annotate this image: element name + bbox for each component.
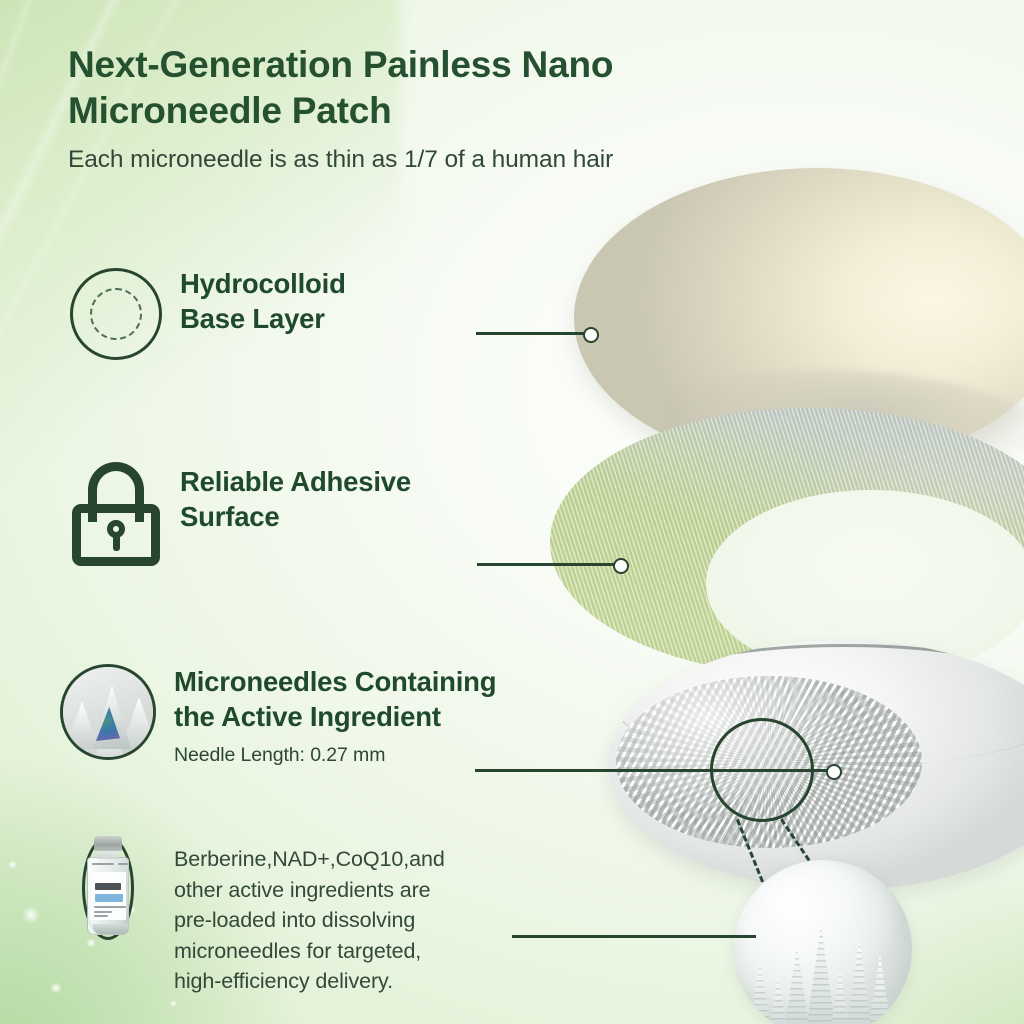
feature-text-ingredients: Berberine,NAD+,CoQ10,and other active in… — [174, 840, 445, 997]
feature-title-microneedles: Microneedles Containing the Active Ingre… — [174, 664, 496, 734]
leader-line-hydrocolloid — [476, 332, 584, 335]
feature-row-hydrocolloid: Hydrocolloid Base Layer — [62, 262, 346, 366]
vial-label-text — [94, 915, 108, 917]
vial-body — [87, 857, 129, 935]
leader-dot — [826, 764, 842, 780]
feature-row-ingredients: Berberine,NAD+,CoQ10,and other active in… — [56, 840, 445, 997]
ingredients-description: Berberine,NAD+,CoQ10,and other active in… — [174, 844, 445, 997]
vial-label-text — [94, 906, 126, 908]
microneedle-photo-art — [63, 667, 153, 757]
feature-text-adhesive: Reliable Adhesive Surface — [180, 460, 411, 534]
dashed-circle-icon-inner — [90, 288, 142, 340]
patch-exploded-graphic — [440, 120, 1024, 1024]
needle-length-label: Needle Length: 0.27 mm — [174, 744, 496, 767]
vial-photo-icon — [56, 840, 160, 944]
feature-text-microneedles: Microneedles Containing the Active Ingre… — [174, 660, 496, 767]
page-subtitle: Each microneedle is as thin as 1/7 of a … — [68, 144, 768, 176]
medicine-vial-illustration — [82, 836, 134, 940]
background-bokeh-dot — [8, 860, 17, 869]
feature-title-adhesive: Reliable Adhesive Surface — [180, 464, 411, 534]
microneedle-photo-icon — [56, 660, 160, 764]
vial-label-blue-band — [95, 894, 123, 902]
leader-line-ingredients — [512, 935, 756, 938]
microneedle-photo-icon-frame — [60, 664, 156, 760]
padlock-icon — [62, 460, 166, 564]
feature-title-hydrocolloid: Hydrocolloid Base Layer — [180, 266, 346, 336]
background-bokeh-dot — [22, 906, 40, 924]
feature-row-microneedles: Microneedles Containing the Active Ingre… — [56, 660, 496, 767]
vial-brand-text — [95, 883, 121, 890]
vial-base — [93, 924, 129, 934]
header: Next-Generation Painless Nano Microneedl… — [68, 42, 768, 176]
vial-top-text — [118, 863, 128, 865]
needle-shape — [65, 701, 99, 749]
vial-cap — [94, 836, 122, 851]
feature-row-adhesive: Reliable Adhesive Surface — [62, 460, 411, 564]
vial-label-text — [94, 911, 112, 913]
leader-dot — [613, 558, 629, 574]
leader-line-microneedles — [475, 769, 827, 772]
vial-neck — [98, 850, 118, 859]
leader-line-adhesive — [477, 563, 614, 566]
leader-dot — [583, 327, 599, 343]
background-bokeh-dot — [170, 1000, 177, 1007]
feature-text-hydrocolloid: Hydrocolloid Base Layer — [180, 262, 346, 336]
vial-label — [90, 872, 126, 920]
padlock-keyhole-stem — [113, 534, 120, 551]
microneedle-magnified-bubble — [734, 860, 912, 1024]
page-title: Next-Generation Painless Nano Microneedl… — [68, 42, 768, 134]
dashed-circle-icon — [62, 262, 166, 366]
infographic-canvas: Next-Generation Painless Nano Microneedl… — [0, 0, 1024, 1024]
vial-top-text — [92, 863, 114, 865]
